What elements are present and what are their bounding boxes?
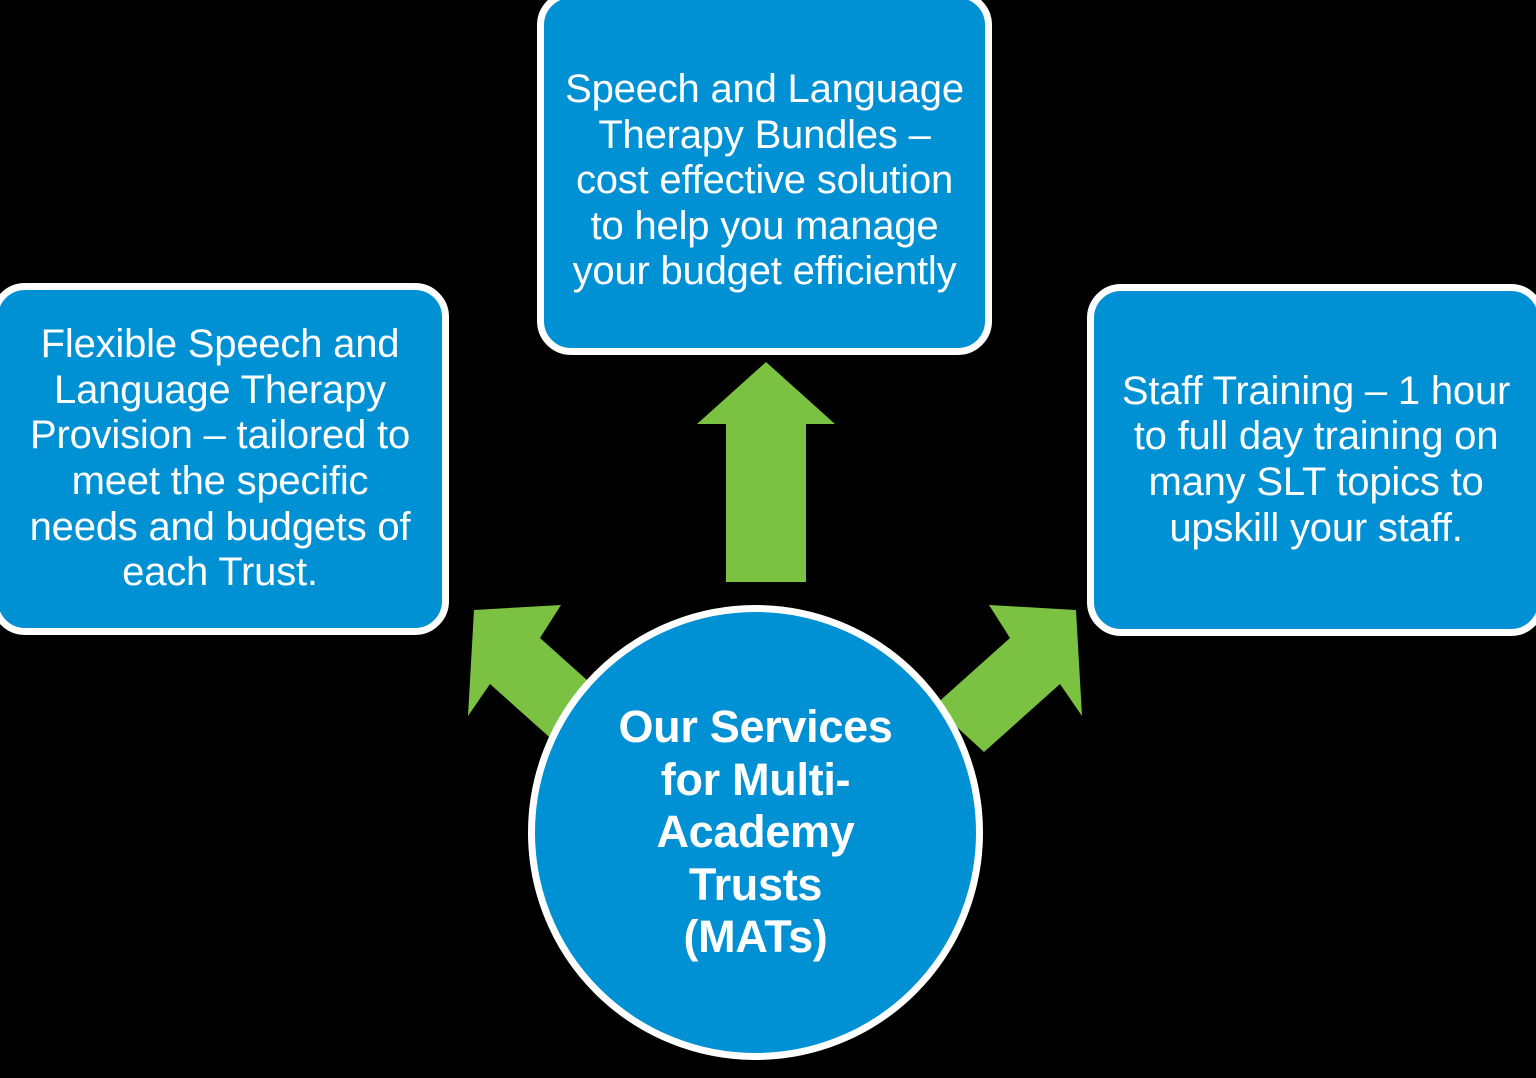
node-top-label: Speech and Language Therapy Bundles – co… <box>544 51 985 295</box>
node-speech-language-therapy-bundles[interactable]: Speech and Language Therapy Bundles – co… <box>537 0 992 355</box>
node-staff-training[interactable]: Staff Training – 1 hour to full day trai… <box>1087 284 1536 636</box>
node-left-label: Flexible Speech and Language Therapy Pro… <box>0 322 442 596</box>
hub-node-label: Our Services for Multi- Academy Trusts (… <box>584 701 928 964</box>
node-flexible-slt-provision[interactable]: Flexible Speech and Language Therapy Pro… <box>0 283 449 635</box>
diagram-canvas: Speech and Language Therapy Bundles – co… <box>0 0 1536 1078</box>
hub-node-our-services-for-mats[interactable]: Our Services for Multi- Academy Trusts (… <box>528 605 983 1060</box>
node-right-label: Staff Training – 1 hour to full day trai… <box>1094 369 1536 551</box>
arrow-up-icon <box>690 356 842 588</box>
